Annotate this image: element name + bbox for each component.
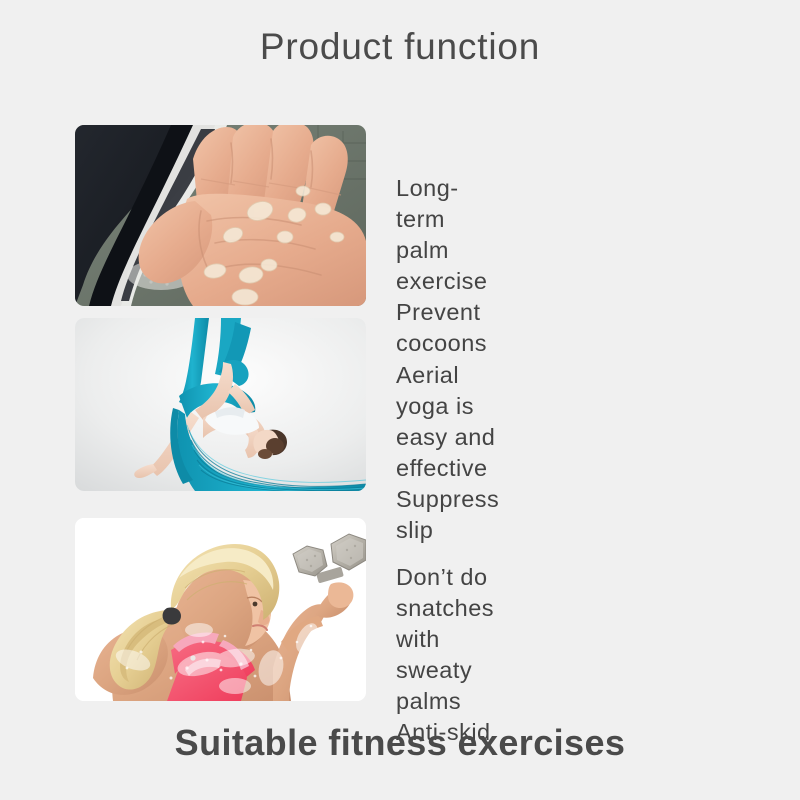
aerial-yoga-photo	[75, 318, 366, 491]
feature-caption-2: Aerial yoga is easy and effective Suppre…	[396, 360, 499, 546]
page-title: Product function	[0, 26, 800, 68]
dumbbell-curl-photo	[75, 518, 366, 701]
dumbbell-curl-illustration	[75, 518, 366, 701]
footer-title: Suitable fitness exercises	[0, 722, 800, 764]
feature-caption-1: Long-term palm exercise Prevent cocoons	[396, 173, 488, 359]
callused-palm-illustration	[75, 125, 366, 306]
callused-palm-photo	[75, 125, 366, 306]
aerial-yoga-illustration	[75, 318, 366, 491]
feature-caption-3: Don’t do snatches with sweaty palms Anti…	[396, 562, 494, 748]
product-function-infographic: Product function	[0, 0, 800, 800]
